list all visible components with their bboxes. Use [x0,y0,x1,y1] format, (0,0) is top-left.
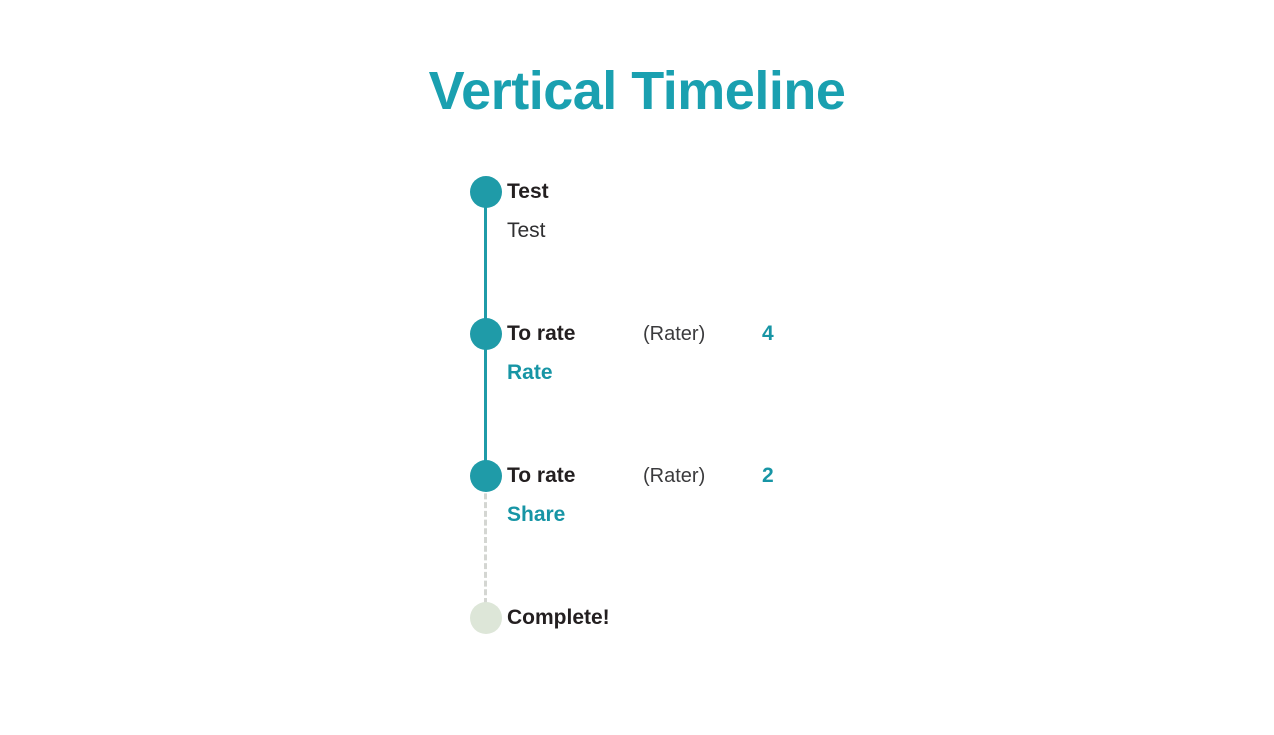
timeline-connector-dashed [484,476,487,604]
timeline-dot-active [470,460,502,492]
timeline-item-test[interactable]: Test Test [470,176,1230,318]
timeline-connector-solid [484,192,487,334]
timeline-action-share-link[interactable]: Share [507,503,1230,527]
timeline-item-to-rate-1[interactable]: To rate (Rater) 4 Rate [470,318,1230,460]
timeline-item-header: To rate (Rater) 4 [507,318,1230,350]
timeline-action-rate-link[interactable]: Rate [507,361,1230,385]
timeline-item-header: Complete! [507,602,1230,634]
timeline-item-title: Complete! [507,606,610,630]
timeline-page: Vertical Timeline Test Test To rate (Rat… [0,0,1274,735]
timeline-item-complete: Complete! [470,602,1230,644]
timeline-item-count: 4 [762,322,774,346]
timeline-dot-active [470,318,502,350]
timeline-item-header: Test [507,176,1230,208]
page-title: Vertical Timeline [0,56,1274,126]
timeline-dot-active [470,176,502,208]
timeline-dot-complete [470,602,502,634]
timeline-item-title: To rate [507,464,575,488]
timeline-item-role: (Rater) [643,465,705,488]
timeline-item-role: (Rater) [643,323,705,346]
timeline-item-count: 2 [762,464,774,488]
timeline-item-title: Test [507,180,549,204]
timeline-item-title: To rate [507,322,575,346]
vertical-timeline: Test Test To rate (Rater) 4 Rate To rate… [470,176,1230,644]
timeline-item-header: To rate (Rater) 2 [507,460,1230,492]
timeline-item-description: Test [507,219,1230,243]
timeline-item-to-rate-2[interactable]: To rate (Rater) 2 Share [470,460,1230,602]
timeline-connector-solid [484,334,487,476]
